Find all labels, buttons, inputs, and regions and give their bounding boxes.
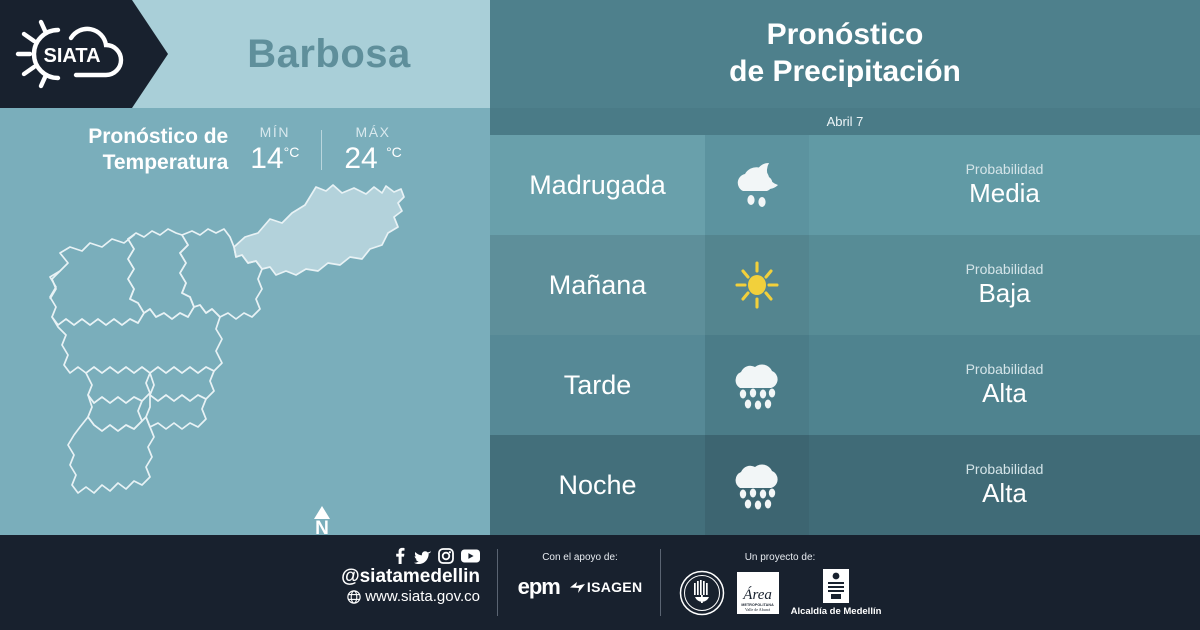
footer-divider-2 — [660, 549, 661, 616]
siata-logo-chevron: SIATA — [0, 0, 168, 108]
forecast-row-madrugada[interactable]: Madrugada Probabilidad Media — [490, 135, 1200, 235]
temperature-min-value-group: 14°C — [250, 142, 299, 175]
isagen-mark-icon — [570, 581, 585, 594]
temperature-min-value: 14 — [250, 142, 283, 175]
project-caption: Un proyecto de: — [665, 552, 895, 563]
probability-value: Media — [969, 178, 1040, 209]
map-svg — [30, 175, 460, 527]
forecast-icon-cell — [705, 135, 809, 235]
alcaldia-medellin-logo[interactable]: Alcaldía de Medellín — [791, 569, 882, 617]
probability-label: Probabilidad — [966, 361, 1044, 377]
forecast-period-label: Madrugada — [490, 135, 705, 235]
social-handle[interactable]: @siatamedellin — [300, 566, 480, 588]
support-block: Con el apoyo de: epm ISAGEN — [505, 552, 655, 600]
forecast-period-label: Noche — [490, 435, 705, 535]
map-region-la-estrella — [146, 395, 206, 429]
temperature-max-value: 24 — [344, 142, 377, 175]
temperature-max-unit: °C — [386, 144, 402, 160]
map-region-caldas — [68, 417, 154, 493]
project-logos: Área METROPOLITANA Valle de Aburrá — [665, 569, 895, 617]
ama-sub2: Valle de Aburrá — [745, 607, 770, 612]
forecast-title-line1: Pronóstico — [767, 17, 924, 54]
left-panel: SIATA Barbosa Pronóstico de Temperatura … — [0, 0, 490, 535]
precipitation-header: Pronóstico de Precipitación — [490, 0, 1200, 108]
area-metropolitana-logo[interactable]: Área METROPOLITANA Valle de Aburrá — [737, 572, 779, 614]
temperature-min-label: MÍN — [250, 125, 299, 140]
map-region-copacabana — [128, 229, 194, 319]
isagen-text: ISAGEN — [587, 579, 642, 595]
forecast-period-label: Mañana — [490, 235, 705, 335]
forecast-row-tarde[interactable]: Tarde Probabilidad Alta — [490, 335, 1200, 435]
forecast-date: Abril 7 — [490, 108, 1200, 135]
probability-label: Probabilidad — [966, 161, 1044, 177]
support-caption: Con el apoyo de: — [505, 552, 655, 563]
forecast-icon-cell — [705, 235, 809, 335]
ama-script: Área — [743, 588, 772, 603]
probability-label: Probabilidad — [966, 261, 1044, 277]
social-block: @siatamedellin www.siata.gov.co — [300, 547, 480, 606]
temperature-forecast-block: Pronóstico de Temperatura MÍN 14°C MÁX 2… — [0, 118, 490, 182]
forecast-title-line2: de Precipitación — [729, 54, 961, 91]
probability-value: Baja — [978, 278, 1030, 309]
forecast-icon-cell — [705, 435, 809, 535]
sun-cloud-icon: SIATA — [14, 16, 130, 92]
facebook-icon[interactable] — [392, 547, 407, 564]
map-region-bello — [50, 235, 144, 325]
temperature-title-line1: Pronóstico de — [88, 125, 228, 148]
page-title: Barbosa — [168, 0, 490, 108]
isagen-logo[interactable]: ISAGEN — [570, 579, 642, 595]
social-icons — [300, 547, 480, 564]
municipality-map[interactable]: N — [30, 175, 460, 527]
forecast-probability: Probabilidad Media — [809, 135, 1200, 235]
universidad-nacional-seal[interactable] — [679, 570, 725, 616]
forecast-icon-cell — [705, 335, 809, 435]
probability-label: Probabilidad — [966, 461, 1044, 477]
website-text: www.siata.gov.co — [365, 588, 480, 606]
temperature-title-line2: Temperatura — [103, 151, 229, 174]
moon-cloud-rain-icon — [729, 159, 785, 211]
youtube-icon[interactable] — [461, 549, 480, 563]
probability-value: Alta — [982, 378, 1027, 409]
temperature-max-value-group: 24 °C — [344, 142, 401, 175]
temperature-max-label: MÁX — [344, 125, 401, 140]
infographic-canvas: SIATA Barbosa Pronóstico de Temperatura … — [0, 0, 1200, 630]
forecast-period-label: Tarde — [490, 335, 705, 435]
temperature-max: MÁX 24 °C — [344, 125, 401, 174]
forecast-row-noche[interactable]: Noche Probabilidad Alta — [490, 435, 1200, 535]
instagram-icon[interactable] — [438, 548, 454, 564]
map-region-barbosa — [234, 185, 404, 275]
temperature-divider — [321, 130, 322, 170]
website-row[interactable]: www.siata.gov.co — [300, 588, 480, 606]
sun-icon — [729, 259, 785, 311]
forecast-probability: Probabilidad Alta — [809, 335, 1200, 435]
support-logos: epm ISAGEN — [505, 574, 655, 600]
globe-icon — [347, 590, 361, 604]
right-panel: Pronóstico de Precipitación Abril 7 Madr… — [490, 0, 1200, 535]
forecast-rows: Madrugada Probabilidad Media Mañana — [490, 135, 1200, 535]
forecast-probability: Probabilidad Alta — [809, 435, 1200, 535]
probability-value: Alta — [982, 478, 1027, 509]
alcaldia-crest-icon — [823, 569, 849, 603]
city-header-band: SIATA Barbosa — [0, 0, 490, 108]
temperature-min: MÍN 14°C — [250, 125, 299, 174]
temperature-min-unit: °C — [284, 144, 300, 160]
siata-logo-text: SIATA — [43, 45, 100, 67]
cloud-heavy-rain-icon — [728, 458, 786, 512]
project-block: Un proyecto de: Área — [665, 552, 895, 617]
cloud-heavy-rain-icon — [728, 358, 786, 412]
epm-logo[interactable]: epm — [518, 574, 560, 600]
temperature-title: Pronóstico de Temperatura — [88, 124, 228, 175]
forecast-row-manana[interactable]: Mañana — [490, 235, 1200, 335]
twitter-icon[interactable] — [414, 547, 431, 564]
footer: @siatamedellin www.siata.gov.co Con el a… — [0, 535, 1200, 630]
footer-divider-1 — [497, 549, 498, 616]
map-region-medellin — [52, 305, 222, 373]
alcaldia-text: Alcaldía de Medellín — [791, 606, 882, 617]
forecast-probability: Probabilidad Baja — [809, 235, 1200, 335]
